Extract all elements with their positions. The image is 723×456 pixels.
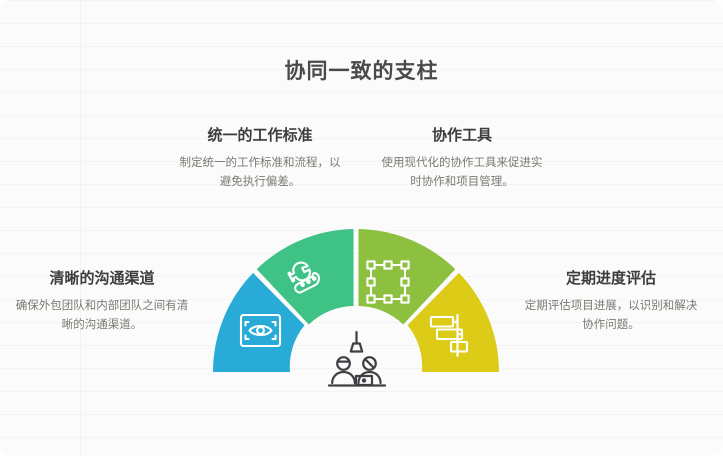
infographic-canvas: 协同一致的支柱 统一的工作标准 制定统一的工作标准和流程，以避免执行偏差。 协作… (0, 0, 723, 456)
segment-description: 制定统一的工作标准和流程，以避免执行偏差。 (176, 154, 344, 192)
segment-title: 定期进度评估 (520, 267, 702, 288)
segment-title: 清晰的沟通渠道 (14, 267, 190, 288)
segment-label-unified-standards: 统一的工作标准 制定统一的工作标准和流程，以避免执行偏差。 (176, 124, 344, 192)
segment-title: 统一的工作标准 (176, 124, 344, 145)
page-title: 协同一致的支柱 (0, 55, 723, 85)
half-donut-chart (203, 222, 509, 388)
segment-label-progress-review: 定期进度评估 定期评估项目进展，以识别和解决协作问题。 (520, 267, 702, 335)
segment-description: 使用现代化的协作工具来促进实时协作和项目管理。 (378, 154, 546, 192)
segment-label-collaboration-tools: 协作工具 使用现代化的协作工具来促进实时协作和项目管理。 (378, 124, 546, 192)
segment-title: 协作工具 (378, 124, 546, 145)
segment-description: 定期评估项目进展，以识别和解决协作问题。 (520, 297, 702, 335)
team-collaboration-icon (329, 332, 385, 386)
segment-description: 确保外包团队和内部团队之间有清晰的沟通渠道。 (14, 297, 190, 335)
segment-label-clear-communication: 清晰的沟通渠道 确保外包团队和内部团队之间有清晰的沟通渠道。 (14, 267, 190, 335)
